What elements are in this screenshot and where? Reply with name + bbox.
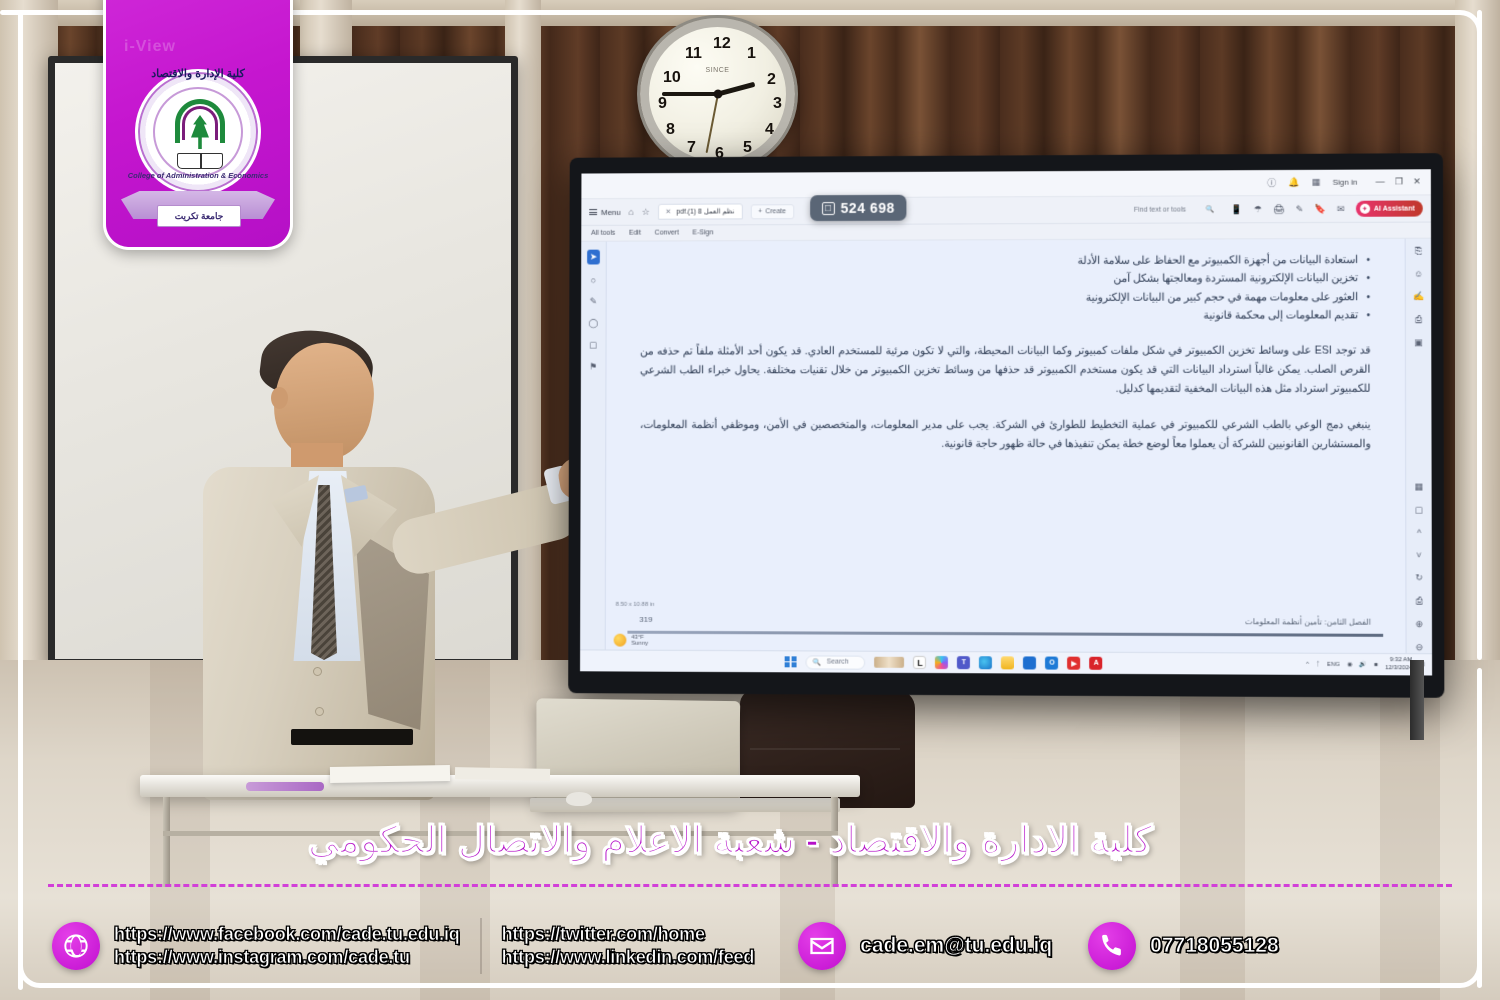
wall-clock: 12 1 2 3 4 5 6 7 8 9 10 11 SINCE <box>640 18 795 170</box>
system-tray: ^ ᛏ ENG ◉ 🔊 ■ 9:32 AM 12/3/2024 ☐ <box>1306 657 1425 673</box>
document-tab-label: نظم العمل 8 (1).pdf <box>676 207 734 215</box>
edit-icon[interactable]: 🔖 <box>1314 203 1325 214</box>
export-pdf-icon[interactable]: ⎘ <box>1415 246 1422 257</box>
pdf-page-footer: الفصل الثامن: تأمين أنظمة المعلومات 319 <box>606 615 1406 627</box>
file-explorer-icon[interactable] <box>1001 656 1014 669</box>
display-cable <box>1410 660 1424 740</box>
layers-icon[interactable]: ▣ <box>1414 337 1423 348</box>
computer-mouse <box>566 792 592 806</box>
export-icon[interactable]: ✉ <box>1337 203 1345 214</box>
close-button[interactable]: ✕ <box>1413 176 1421 187</box>
document-paragraph-1: قد توجد ESI على وسائط تخزين الكمبيوتر في… <box>640 341 1371 400</box>
store-icon[interactable] <box>1023 656 1036 669</box>
ai-assistant-label: AI Assistant <box>1374 205 1415 212</box>
notification-bell-icon[interactable]: 🔔 <box>1288 177 1299 188</box>
windows-taskbar: 🔍 Search L T O ▶ A <box>580 649 1432 675</box>
clock-hour-hand <box>717 82 755 97</box>
list-item: تقديم المعلومات إلى محكمة قانونية <box>640 306 1370 326</box>
seal-book-icon <box>177 153 223 169</box>
weather-widget[interactable]: 43°F Sunny <box>614 634 649 647</box>
seal-emblem <box>153 87 243 177</box>
instagram-link[interactable]: https://www.instagram.com/cade.tu <box>114 947 460 968</box>
email-group: cade.em@tu.edu.iq <box>798 922 1052 970</box>
menu-button[interactable]: Menu <box>589 207 620 216</box>
copilot-icon[interactable] <box>935 656 948 669</box>
help-circle-icon[interactable]: ⓘ <box>1267 176 1276 189</box>
print-icon[interactable]: 🖨 <box>1273 204 1285 215</box>
show-hidden-icon[interactable]: ^ <box>1306 661 1309 667</box>
thumbnail-icon[interactable]: ▦ <box>1415 481 1424 492</box>
home-icon[interactable]: ⌂ <box>629 207 634 217</box>
id-badge-overlay: □ 524 698 <box>810 195 907 221</box>
star-icon[interactable]: ☆ <box>642 206 650 217</box>
volume-icon[interactable]: 🔊 <box>1360 661 1368 668</box>
widget-icon[interactable] <box>875 657 905 668</box>
frame-corner-top-right <box>1438 10 1482 54</box>
taskbar-clock[interactable]: 9:32 AM 12/3/2024 <box>1385 657 1412 672</box>
comment-icon[interactable]: ✎ <box>1296 203 1304 214</box>
chair-seam <box>750 748 900 750</box>
taskbar-search[interactable]: 🔍 Search <box>805 655 866 669</box>
clock-number: 3 <box>773 95 782 113</box>
sun-icon <box>614 634 627 647</box>
search-icon: 🔍 <box>813 658 822 666</box>
clock-number: 1 <box>747 45 756 63</box>
phone-group: 07718055128 <box>1088 922 1278 970</box>
clock-number: 10 <box>663 69 681 87</box>
zoom-out-icon[interactable]: ⊖ <box>1415 642 1423 653</box>
clock-number: 8 <box>666 121 675 139</box>
envelope-icon[interactable] <box>798 922 846 970</box>
outlook-icon[interactable]: O <box>1045 657 1058 670</box>
document-bullet-list: استعادة البيانات من أجهزة الكمبيوتر مع ا… <box>640 251 1370 326</box>
acrobat-window: ⓘ 🔔 ▦ Sign in — ❐ ✕ Menu ⌂ <box>580 169 1432 675</box>
frame-right-line <box>1477 10 1482 660</box>
right-tool-rail: ⎘ ☺ ✍ ⎙ ▣ ▦ ▢ ^ ˅ ↻ ⎙ ⊕ ⊖ <box>1405 239 1432 654</box>
copy-icon[interactable]: ⎙ <box>1415 314 1422 325</box>
comment-icon[interactable]: ○ <box>591 275 596 285</box>
id-card-icon: □ <box>822 202 835 215</box>
page-icon[interactable]: ▢ <box>1415 505 1424 516</box>
esign-tab[interactable]: E-Sign <box>693 229 714 236</box>
left-tool-rail: ➤ ○ ✎ ◯ ▢ ⚑ <box>580 242 607 650</box>
id-badge-value: 524 698 <box>840 200 894 216</box>
twitter-link[interactable]: https://twitter.com/home <box>502 924 755 945</box>
college-logo-panel: i-View كلية الإدارة والاقتصاد College of… <box>103 0 293 250</box>
page-number: 319 <box>639 615 652 624</box>
suit-button <box>315 707 324 716</box>
hamburger-icon <box>589 209 597 215</box>
taskbar-apps: L T O ▶ A <box>875 656 1103 670</box>
create-label: Create <box>765 208 786 215</box>
clock-number: 11 <box>685 45 702 63</box>
note-icon[interactable]: ✍ <box>1413 291 1424 302</box>
clock-time: 9:32 AM <box>1390 657 1412 665</box>
ai-sparkle-icon: ✦ <box>1360 204 1370 214</box>
clock-number: 7 <box>687 139 696 157</box>
presenter-belt <box>291 729 413 745</box>
presenter-ear <box>271 387 288 409</box>
list-item: تخزين البيانات الإلكترونية المستردة ومعا… <box>640 269 1370 289</box>
find-placeholder: Find text or tools <box>1134 206 1186 213</box>
emoji-icon[interactable]: ☺ <box>1414 269 1423 279</box>
page-scrollbar[interactable] <box>627 631 1383 637</box>
sign-in-button[interactable]: Sign in <box>1332 178 1357 187</box>
maximize-button[interactable]: ❐ <box>1395 176 1403 187</box>
acrobat-titlebar: ⓘ 🔔 ▦ Sign in — ❐ ✕ <box>581 169 1431 199</box>
weather-condition: Sunny <box>631 640 648 646</box>
document-tab[interactable]: نظم العمل 8 (1).pdf ✕ <box>658 203 743 219</box>
apps-grid-icon[interactable]: ▦ <box>1312 177 1321 188</box>
zoom-in-icon[interactable]: ⊕ <box>1415 619 1423 630</box>
wifi-icon[interactable]: ◉ <box>1347 661 1352 668</box>
clock-date: 12/3/2024 <box>1385 665 1412 673</box>
seal-arabic-name: كلية الإدارة والاقتصاد <box>113 67 283 80</box>
acrobat-icon[interactable]: A <box>1090 657 1103 670</box>
select-tool-icon[interactable]: ➤ <box>587 250 600 265</box>
desk-papers <box>455 767 550 781</box>
facebook-link[interactable]: https://www.facebook.com/cade.tu.edu.iq <box>114 924 460 945</box>
erase-icon[interactable]: ◯ <box>588 318 598 329</box>
all-tools-tab[interactable]: All tools <box>591 230 615 237</box>
banner-title: كلية الادارة والاقتصاد - شعبة الاعلام وا… <box>0 818 1500 863</box>
edit-tab[interactable]: Edit <box>629 230 641 237</box>
banner-divider <box>48 884 1452 887</box>
email-address[interactable]: cade.em@tu.edu.iq <box>860 934 1052 958</box>
plus-icon: + <box>758 208 762 215</box>
up-chevron-icon[interactable]: ^ <box>1417 528 1421 538</box>
bluetooth-icon[interactable]: ᛏ <box>1316 661 1320 667</box>
clock-center-pin <box>713 90 722 99</box>
seal-university-name: جامعة تكريت <box>157 205 241 227</box>
edge-icon[interactable] <box>979 656 992 669</box>
page-size-note: 8.50 x 10.88 in <box>616 602 655 608</box>
ai-assistant-button[interactable]: ✦ AI Assistant <box>1356 200 1423 216</box>
convert-tab[interactable]: Convert <box>655 230 679 237</box>
clock-number: 9 <box>658 95 667 113</box>
share-icon[interactable]: ☂ <box>1254 204 1262 215</box>
acrobat-workspace: ➤ ○ ✎ ◯ ▢ ⚑ استعادة البيانات من أجهزة ال… <box>580 239 1432 654</box>
find-input[interactable]: Find text or tools 🔍 <box>1128 203 1220 215</box>
wall-display: ⓘ 🔔 ▦ Sign in — ❐ ✕ Menu ⌂ <box>568 153 1444 698</box>
minimize-button[interactable]: — <box>1375 177 1384 188</box>
seal-english-name: College of Administration & Economics <box>113 171 283 180</box>
desk-papers <box>330 765 450 783</box>
phone-number[interactable]: 07718055128 <box>1150 934 1278 958</box>
document-paragraph-2: ينبغي دمج الوعي بالطب الشرعي للكمبيوتر ف… <box>640 416 1371 455</box>
clock-number: 12 <box>713 35 731 53</box>
clock-number: 2 <box>767 71 776 89</box>
clock-brand: SINCE <box>706 67 730 74</box>
desk-marker <box>246 782 324 791</box>
globe-icon[interactable] <box>52 922 100 970</box>
iview-wall-label: i-View <box>124 38 176 56</box>
search-placeholder: Search <box>827 659 849 666</box>
contact-footer: https://www.facebook.com/cade.tu.edu.iq … <box>0 892 1500 1000</box>
college-seal: كلية الإدارة والاقتصاد College of Admini… <box>113 63 283 243</box>
social-links-group: https://twitter.com/home https://www.lin… <box>502 924 755 968</box>
screenshot-stage: 12 1 2 3 4 5 6 7 8 9 10 11 SINCE <box>0 0 1500 1000</box>
phone-icon[interactable] <box>1088 922 1136 970</box>
linkedin-link[interactable]: https://www.linkedin.com/feed <box>502 947 755 968</box>
text-box-icon[interactable]: ▢ <box>589 340 597 351</box>
lenovo-icon[interactable]: L <box>913 656 926 669</box>
youtube-icon[interactable]: ▶ <box>1068 657 1081 670</box>
stamp-icon[interactable]: ⚑ <box>589 362 597 373</box>
create-button[interactable]: + Create <box>750 204 794 219</box>
windows-start-icon[interactable] <box>785 656 796 668</box>
mobile-icon[interactable]: 📱 <box>1231 204 1242 215</box>
suit-button <box>313 667 322 676</box>
battery-icon[interactable]: ■ <box>1374 662 1378 668</box>
chapter-footer-text: الفصل الثامن: تأمين أنظمة المعلومات <box>1245 617 1371 627</box>
pdf-page: استعادة البيانات من أجهزة الكمبيوتر مع ا… <box>606 239 1406 653</box>
clock-number: 4 <box>765 121 774 139</box>
teams-icon[interactable]: T <box>957 656 970 669</box>
down-chevron-icon[interactable]: ˅ <box>1416 550 1421 560</box>
draw-icon[interactable]: ✎ <box>590 296 597 307</box>
clock-number: 5 <box>743 139 752 157</box>
list-item: استعادة البيانات من أجهزة الكمبيوتر مع ا… <box>640 251 1370 272</box>
search-icon[interactable]: 🔍 <box>1206 205 1215 213</box>
list-item: العثور على معلومات مهمة في حجم كبير من ا… <box>640 288 1370 308</box>
acrobat-toolbar: Menu ⌂ ☆ نظم العمل 8 (1).pdf ✕ + Create <box>581 195 1431 226</box>
rotate-icon[interactable]: ↻ <box>1415 572 1423 583</box>
language-indicator[interactable]: ENG <box>1327 661 1340 667</box>
web-links-group: https://www.facebook.com/cade.tu.edu.iq … <box>52 922 460 970</box>
page-fit-icon[interactable]: ⎙ <box>1415 596 1422 607</box>
close-icon[interactable]: ✕ <box>665 208 671 216</box>
menu-label: Menu <box>601 207 621 216</box>
footer-divider <box>480 918 482 974</box>
clock-minute-hand <box>662 92 718 96</box>
